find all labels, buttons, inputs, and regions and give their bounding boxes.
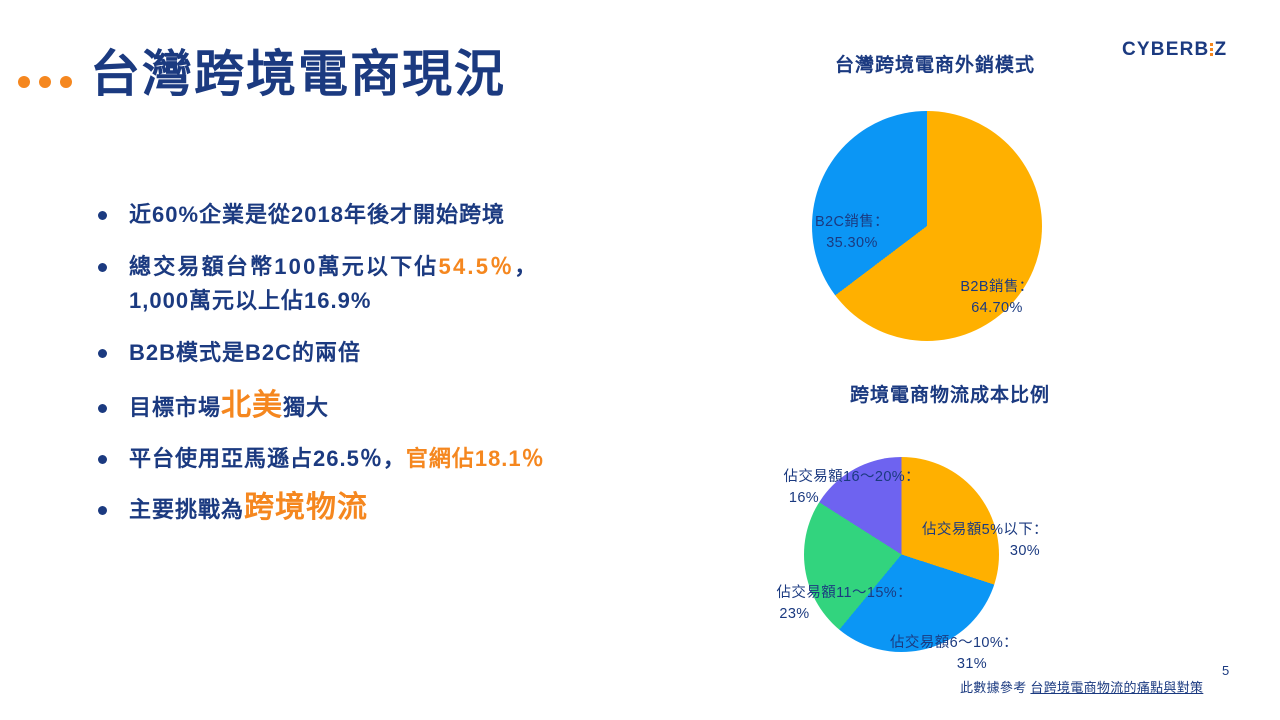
logo-i-dots-icon [1210,43,1213,57]
pie-1-b2b-value: 64.70% [932,298,1062,319]
bullet-dot-icon [98,263,107,272]
source-note-link[interactable]: 台跨境電商物流的痛點與對策 [1030,680,1203,695]
logo-text-left: CYBERB [1122,40,1209,59]
pie-2-6-10-value: 31% [890,654,1090,675]
cyberbiz-logo: CYBERB Z [1122,40,1227,59]
bullet-dot-icon [98,506,107,515]
pie-2-slice-label-6-10: 佔交易額6～10%： 31% [890,633,1090,675]
pie-1-slice-label-b2b: B2B銷售： 64.70% [932,277,1062,319]
bullet-2-second-line: 1,000萬元以上佔16.9% [129,284,539,318]
slide-canvas: CYBERB Z 台灣跨境電商現況 近60%企業是從2018年後才開始跨境 總交… [0,0,1280,720]
bullet-3-seg-0: B2B模式是B2C的兩倍 [129,340,361,365]
bullet-6-text: 主要挑戰為跨境物流 [129,490,368,530]
bullet-6-seg-0: 主要挑戰為 [129,497,244,522]
pie-2-under-5-value: 30% [922,541,1122,562]
list-item: B2B模式是B2C的兩倍 [98,336,718,370]
chart-logistics-cost-ratio: 跨境電商物流成本比例 佔交易額16～20%： 16% 佔交易額5%以下： 30%… [735,380,1165,670]
bullet-5-seg-0: 平台使用亞馬遜占26.5％， [129,446,406,471]
pie-2-11-15-value: 23% [727,604,912,625]
pie-1-b2c-name: B2C銷售： [815,214,889,230]
bullet-2-seg-0: 總交易額台幣100萬元以下佔 [129,254,439,279]
chart-2-plot-area: 佔交易額16～20%： 16% 佔交易額5%以下： 30% 佔交易額11～15%… [735,425,1165,670]
bullet-1-seg-0: 近60%企業是從2018年後才開始跨境 [129,202,505,227]
bullet-2-block: 總交易額台幣100萬元以下佔54.5％， 1,000萬元以上佔16.9% [129,250,539,318]
bullet-6-seg-1: 跨境物流 [244,491,368,524]
logo-text-right: Z [1214,40,1227,59]
pie-2-16-20-value: 16% [730,488,920,509]
title-dots-icon [18,76,72,88]
pie-2-slice-label-16-20: 佔交易額16～20%： 16% [730,467,920,509]
list-item: 總交易額台幣100萬元以下佔54.5％， 1,000萬元以上佔16.9% [98,250,718,318]
bullet-5-text: 平台使用亞馬遜占26.5％，官網佔18.1％ [129,442,545,476]
bullet-4-text: 目標市場北美獨大 [129,388,329,428]
bullet-5-seg-1: 官網佔18.1％ [406,446,545,471]
pie-1-b2b-name: B2B銷售： [960,279,1033,295]
bullet-dot-icon [98,349,107,358]
bullet-dot-icon [98,404,107,413]
source-note: 此數據參考 台跨境電商物流的痛點與對策 [960,677,1203,696]
list-item: 平台使用亞馬遜占26.5％，官網佔18.1％ [98,442,718,476]
bullet-2-seg-2: ， [514,254,538,279]
page-title: 台灣跨境電商現況 [90,46,506,104]
bullet-3-text: B2B模式是B2C的兩倍 [129,336,361,370]
bullet-4-seg-2: 獨大 [283,395,329,420]
list-item: 近60%企業是從2018年後才開始跨境 [98,198,718,232]
bullet-4-seg-1: 北美 [221,389,283,422]
bullet-dot-icon [98,211,107,220]
pie-1-b2c-value: 35.30% [792,233,912,254]
pie-2-16-20-name: 佔交易額16～20%： [783,469,920,485]
bullet-1-text: 近60%企業是從2018年後才開始跨境 [129,198,505,232]
pie-2-11-15-name: 佔交易額11～15%： [777,585,912,601]
chart-2-title: 跨境電商物流成本比例 [735,380,1165,407]
page-number: 5 [1222,663,1229,678]
bullet-4-seg-0: 目標市場 [129,395,221,420]
source-note-prefix: 此數據參考 [960,680,1030,695]
chart-1-plot-area: B2C銷售： 35.30% B2B銷售： 64.70% [735,99,1135,349]
bullet-2-text: 總交易額台幣100萬元以下佔54.5％， [129,250,539,284]
list-item: 主要挑戰為跨境物流 [98,490,718,530]
pie-1-slice-label-b2c: B2C銷售： 35.30% [792,212,912,254]
bullet-2-seg-1: 54.5％ [439,254,515,279]
pie-2-under-5-name: 佔交易額5%以下： [922,522,1048,538]
chart-outbound-sales-model: 台灣跨境電商外銷模式 B2C銷售： 35.30% B2B銷售： 64.70% [735,50,1135,349]
pie-2-slice-label-under-5: 佔交易額5%以下： 30% [922,520,1122,562]
list-item: 目標市場北美獨大 [98,388,718,428]
chart-1-title: 台灣跨境電商外銷模式 [735,50,1135,77]
bullet-list: 近60%企業是從2018年後才開始跨境 總交易額台幣100萬元以下佔54.5％，… [98,198,718,548]
page-title-row: 台灣跨境電商現況 [18,46,506,104]
bullet-dot-icon [98,455,107,464]
pie-2-6-10-name: 佔交易額6～10%： [890,635,1018,651]
pie-2-slice-label-11-15: 佔交易額11～15%： 23% [727,583,912,625]
